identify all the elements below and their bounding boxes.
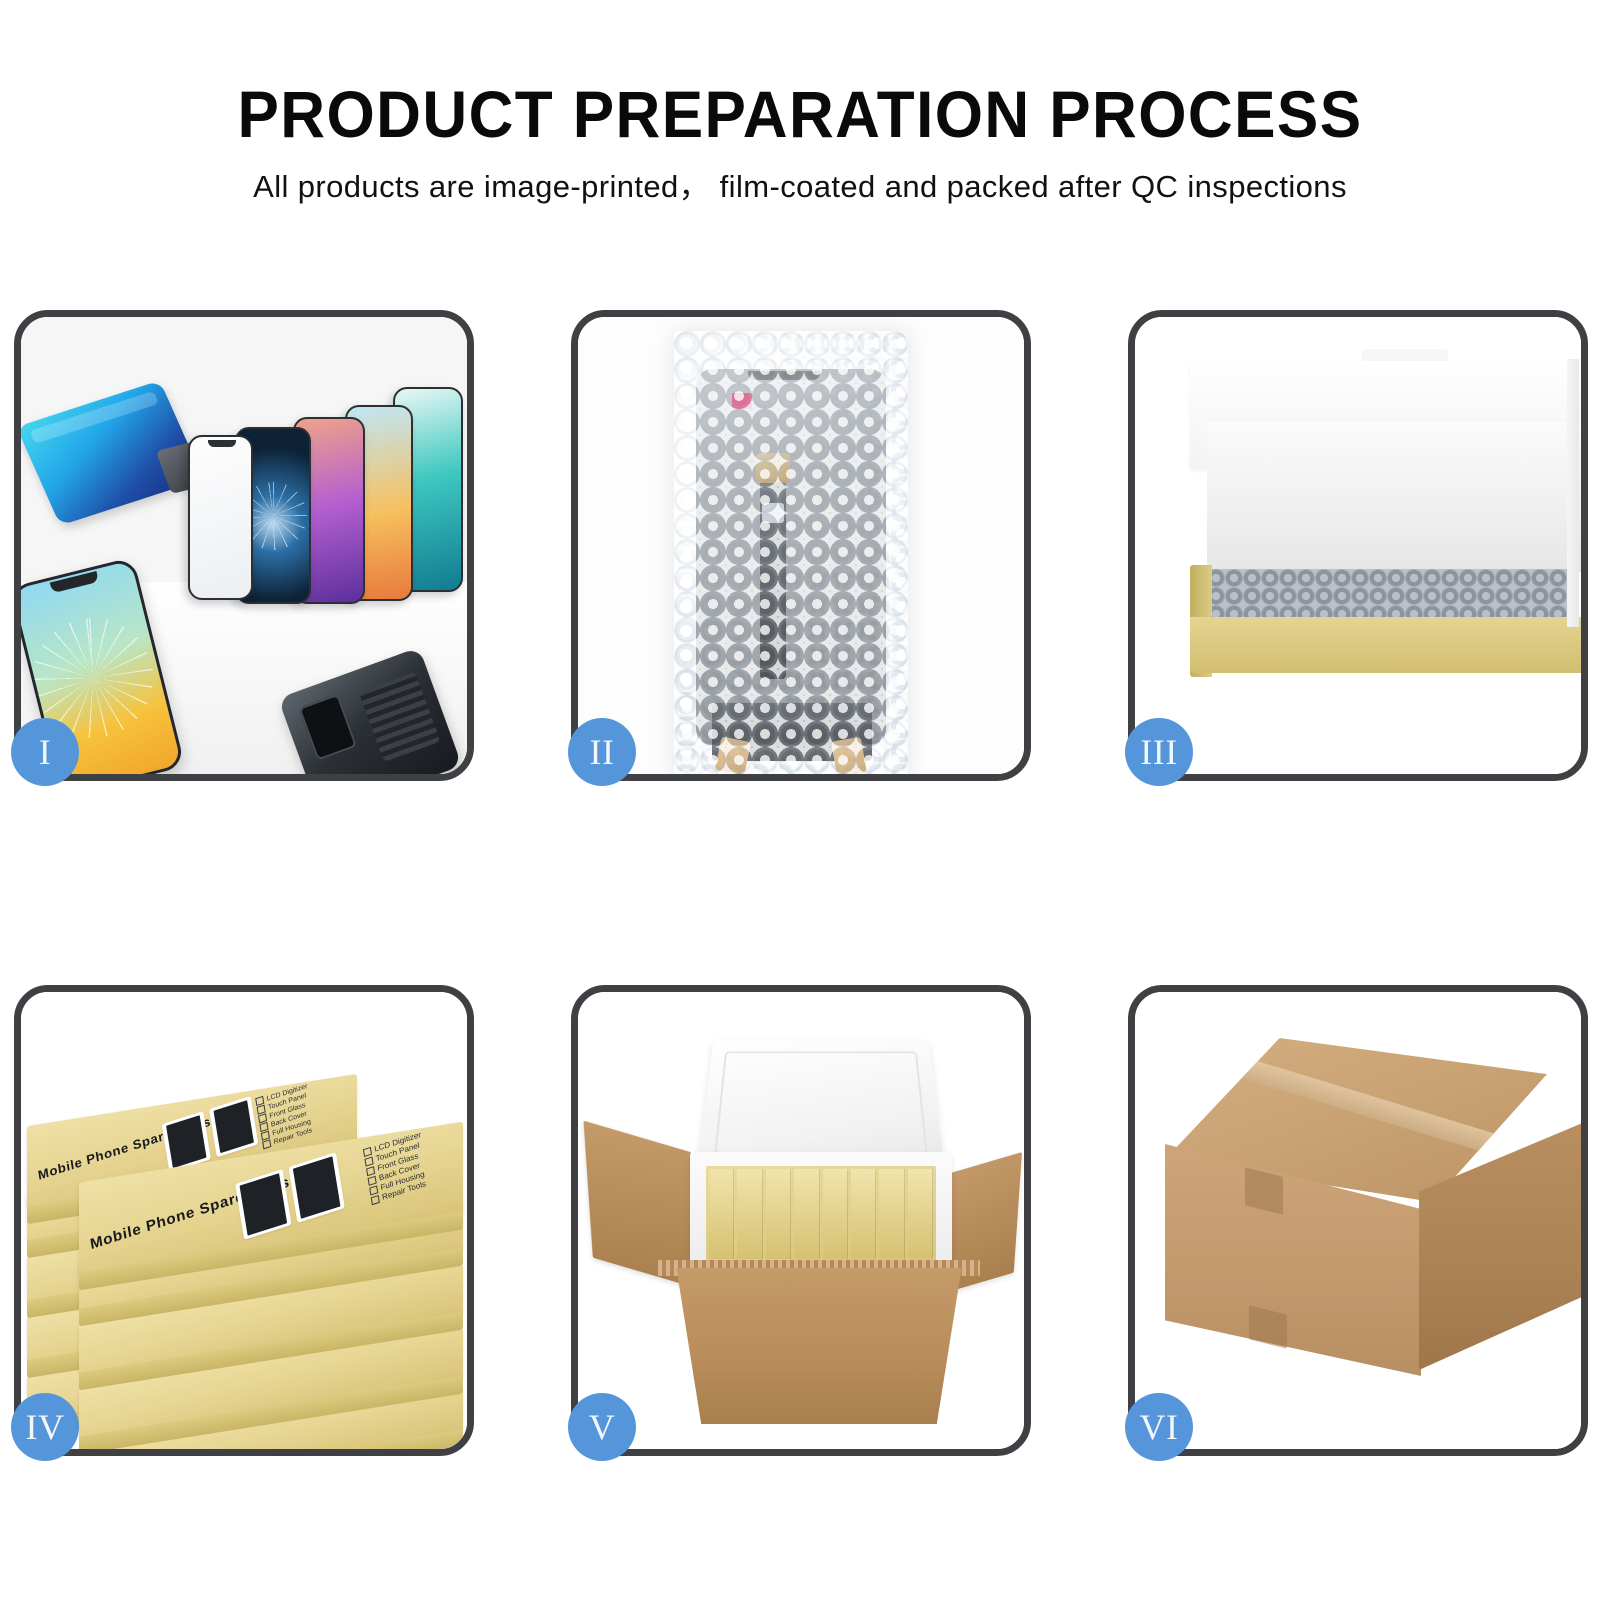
page-title: PRODUCT PREPARATION PROCESS: [48, 78, 1552, 152]
sim-tray-icon: [217, 725, 233, 747]
step-image-2: [578, 317, 1024, 774]
step-image-1: [21, 317, 467, 774]
step-badge-4: IV: [11, 1393, 79, 1461]
step-badge-3: III: [1125, 718, 1193, 786]
earpiece-speaker-icon: [249, 709, 271, 723]
box-product-photos-front: [235, 1152, 345, 1240]
lcd-flex-ribbon-icon: [760, 479, 786, 679]
bubble-wrapped-screen-photo: [578, 317, 1024, 774]
parts-assortment-photo: [21, 317, 467, 774]
step-card-3[interactable]: III: [1128, 310, 1588, 781]
speaker-bar-part-icon: [171, 617, 229, 628]
gold-flex-part-2-icon: [302, 626, 342, 647]
flex-cable-part-1-icon: [193, 657, 235, 677]
step-card-4[interactable]: Mobile Phone Spare Parts LCD Digitizer T…: [14, 985, 474, 1456]
foam-cooler-lid-icon: [698, 1040, 945, 1168]
subtitle-comma: ，: [679, 169, 720, 204]
pink-qc-sticker-icon: [732, 393, 752, 409]
phone-back-housing-icon: [278, 647, 462, 774]
step-card-1[interactable]: I: [14, 310, 474, 781]
box-right-edge-icon: [1567, 359, 1579, 627]
carton-body-icon: [664, 1268, 974, 1424]
step-card-6[interactable]: VI: [1128, 985, 1588, 1456]
step-badge-6: VI: [1125, 1393, 1193, 1461]
step-badge-5: V: [568, 1393, 636, 1461]
step-image-5: [578, 992, 1024, 1449]
flex-cable-part-2-icon: [185, 678, 230, 718]
carton-loading-photo: [578, 992, 1024, 1449]
bubble-wrap-pouch: [674, 331, 908, 774]
box-photo-thumb-3: [235, 1169, 291, 1240]
step-image-6: [1135, 992, 1581, 1449]
step-image-3: [1135, 317, 1581, 774]
box-checklist-back: LCD Digitizer Touch Panel Front Glass Ba…: [255, 1082, 315, 1149]
gold-boxes-inside-icon: [706, 1166, 936, 1262]
step-card-2[interactable]: II: [571, 310, 1031, 781]
box-photo-thumb-4: [288, 1152, 344, 1223]
gold-flex-part-1-icon: [302, 603, 343, 627]
sealed-carton-photo: [1135, 992, 1581, 1449]
inner-box-packing-photo: [1135, 317, 1581, 774]
box-front-panel-icon: [1190, 617, 1581, 673]
box-checklist-front: LCD Digitizer Touch Panel Front Glass Ba…: [363, 1130, 430, 1205]
process-step-grid: I II: [14, 310, 1588, 1456]
lcd-assembly-icon: [696, 369, 886, 745]
flex-cable-part-3-icon: [292, 643, 354, 667]
box-photo-thumb-2: [209, 1096, 258, 1157]
foam-cooler-body-icon: [690, 1152, 952, 1272]
subtitle-part-1: All products are image-printed: [253, 169, 679, 204]
header: PRODUCT PREPARATION PROCESS All products…: [0, 78, 1600, 205]
lcd-connector-block-icon: [712, 703, 872, 761]
step-card-5[interactable]: V: [571, 985, 1031, 1456]
step-badge-1: I: [11, 718, 79, 786]
step-image-4: Mobile Phone Spare Parts LCD Digitizer T…: [21, 992, 467, 1449]
step-badge-2: II: [568, 718, 636, 786]
page-subtitle: All products are image-printed，film-coat…: [0, 168, 1600, 205]
infographic-page: PRODUCT PREPARATION PROCESS All products…: [0, 0, 1600, 1600]
ic-chip-part-icon: [239, 655, 287, 697]
subtitle-part-2: film-coated and packed after QC inspecti…: [720, 169, 1347, 204]
blue-lcd-sheet-icon: [21, 380, 204, 525]
tempered-glass-panel-icon: [188, 435, 253, 600]
white-foam-sheet-icon: [1207, 422, 1581, 572]
retail-box-stack-photo: Mobile Phone Spare Parts LCD Digitizer T…: [21, 992, 467, 1449]
